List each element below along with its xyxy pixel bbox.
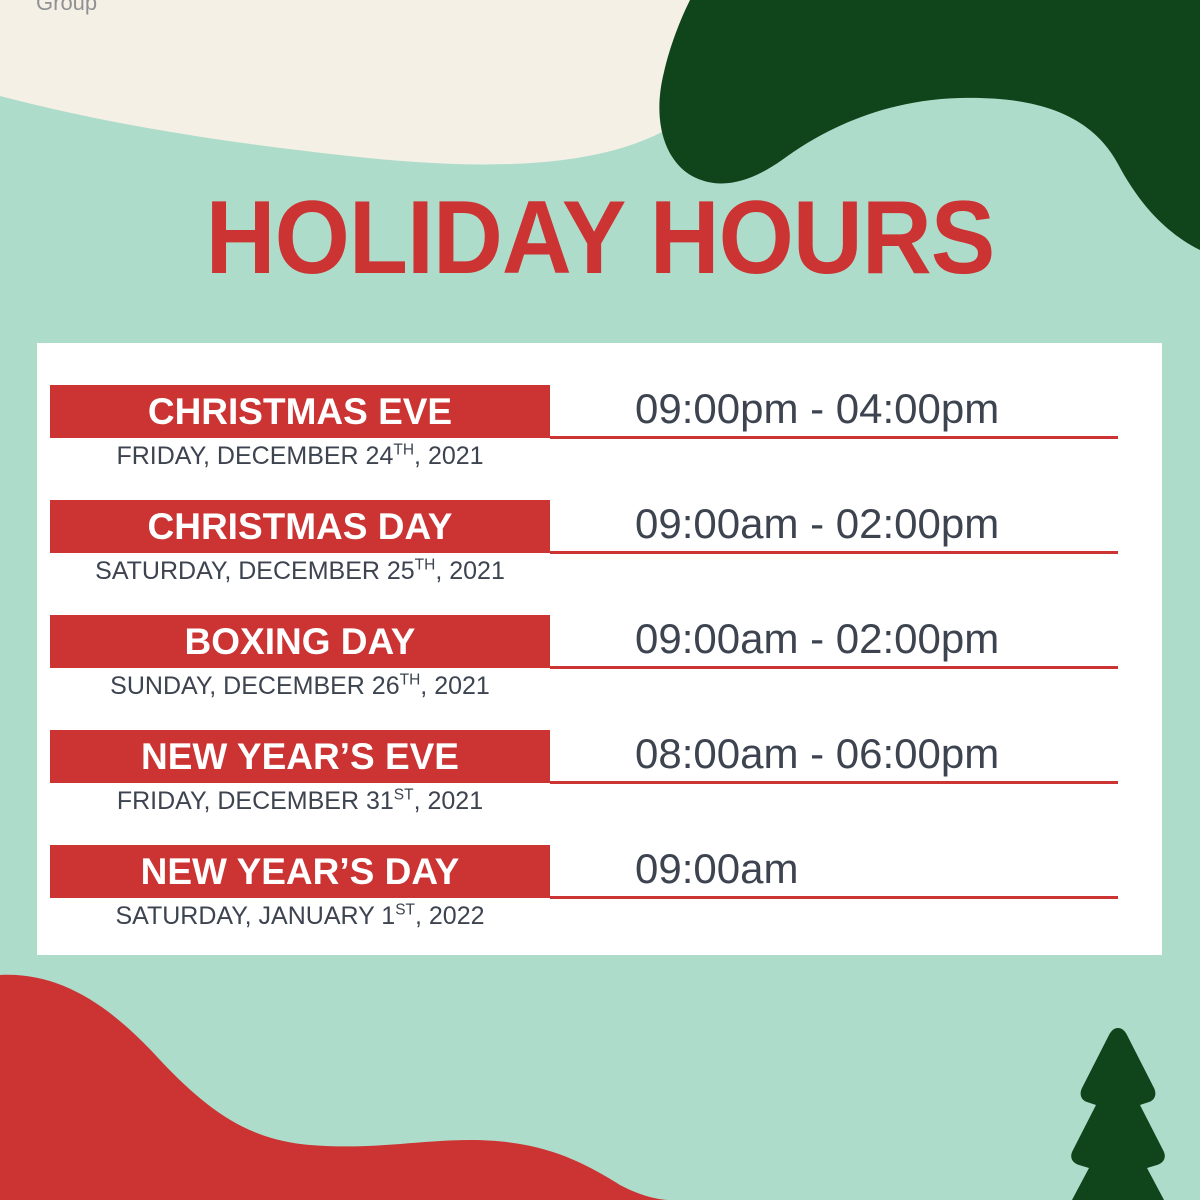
- row-underline: [550, 781, 1118, 784]
- holiday-date-ordinal: ST: [395, 902, 415, 919]
- schedule-card: CHRISTMAS EVE FRIDAY, DECEMBER 24TH, 202…: [37, 343, 1162, 955]
- top-text-fragment: Group: [36, 0, 97, 16]
- holiday-hours: 09:00am - 02:00pm: [635, 613, 1120, 665]
- holiday-date-prefix: SATURDAY, JANUARY 1: [115, 902, 395, 930]
- holiday-name: NEW YEAR’S DAY: [141, 853, 460, 890]
- holiday-hours: 08:00am - 06:00pm: [635, 728, 1120, 780]
- table-row: NEW YEAR’S EVE FRIDAY, DECEMBER 31ST, 20…: [37, 688, 1162, 803]
- table-row: NEW YEAR’S DAY SATURDAY, JANUARY 1ST, 20…: [37, 803, 1162, 915]
- holiday-hours: 09:00am - 02:00pm: [635, 498, 1120, 550]
- holiday-date: SATURDAY, JANUARY 1ST, 2022: [50, 902, 550, 930]
- schedule-rows: CHRISTMAS EVE FRIDAY, DECEMBER 24TH, 202…: [37, 343, 1162, 915]
- holiday-label-bar: NEW YEAR’S DAY: [50, 845, 550, 898]
- table-row: CHRISTMAS DAY SATURDAY, DECEMBER 25TH, 2…: [37, 458, 1162, 573]
- table-row: CHRISTMAS EVE FRIDAY, DECEMBER 24TH, 202…: [37, 343, 1162, 458]
- holiday-date-ordinal: TH: [400, 672, 421, 689]
- row-underline: [550, 436, 1118, 439]
- holiday-hours: 09:00pm - 04:00pm: [635, 383, 1120, 435]
- table-row: BOXING DAY SUNDAY, DECEMBER 26TH, 2021 0…: [37, 573, 1162, 688]
- holiday-date-ordinal: ST: [394, 787, 414, 804]
- holiday-label-bar: CHRISTMAS EVE: [50, 385, 550, 438]
- holiday-date-ordinal: TH: [415, 557, 436, 574]
- holiday-name: BOXING DAY: [185, 623, 416, 660]
- holiday-label-bar: CHRISTMAS DAY: [50, 500, 550, 553]
- row-underline: [550, 666, 1118, 669]
- holiday-name: CHRISTMAS EVE: [148, 393, 452, 430]
- page-title: HOLIDAY HOURS: [42, 186, 1158, 290]
- holiday-date-suffix: , 2022: [415, 902, 485, 930]
- holiday-date-ordinal: TH: [393, 442, 414, 459]
- holiday-hours: 09:00am: [635, 843, 1120, 895]
- holiday-label-bar: NEW YEAR’S EVE: [50, 730, 550, 783]
- row-underline: [550, 551, 1118, 554]
- holiday-name: CHRISTMAS DAY: [148, 508, 453, 545]
- holiday-name: NEW YEAR’S EVE: [141, 738, 459, 775]
- holiday-label-bar: BOXING DAY: [50, 615, 550, 668]
- holiday-hours-poster: Group HOLIDAY HOURS CHRISTMAS EVE FRIDAY…: [0, 0, 1200, 1200]
- row-underline: [550, 896, 1118, 899]
